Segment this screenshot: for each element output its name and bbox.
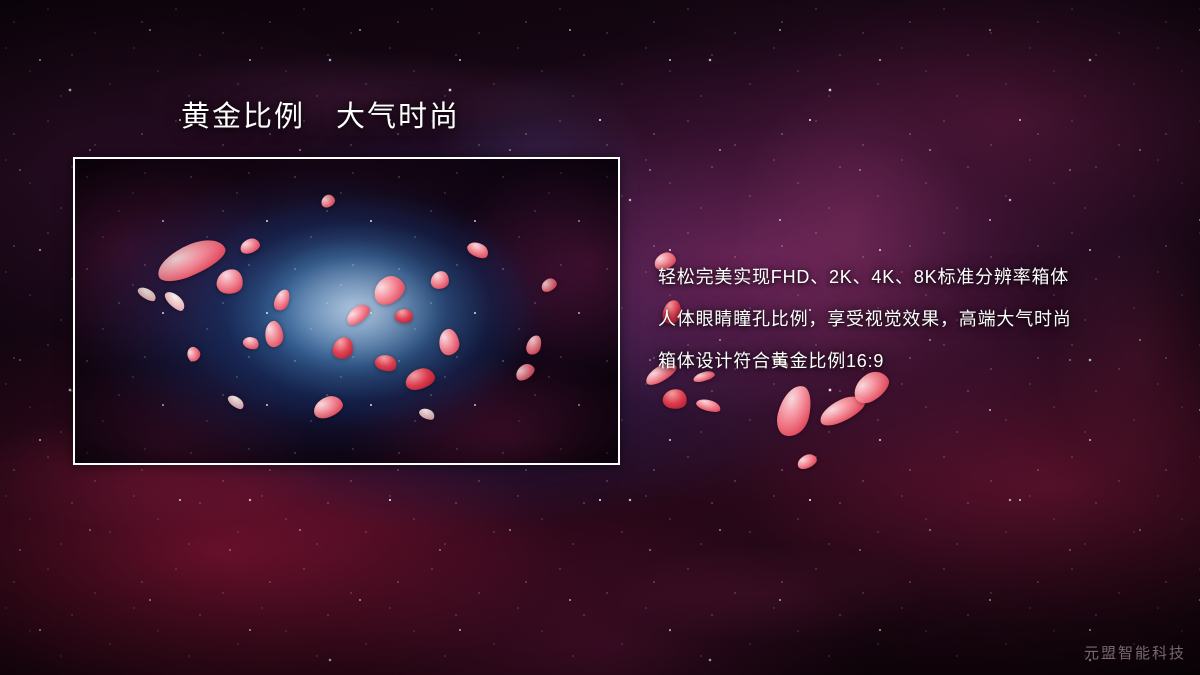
- flower-petal: [373, 352, 399, 375]
- flower-petal: [465, 238, 491, 261]
- body-line-2: 人体眼睛瞳孔比例，享受视觉效果，高端大气时尚: [658, 298, 1158, 340]
- flower-petal: [272, 287, 292, 312]
- body-line-3: 箱体设计符合黄金比例16:9: [658, 340, 1158, 382]
- flower-petal: [226, 392, 246, 411]
- flower-petal: [162, 288, 187, 314]
- flower-petal: [369, 271, 409, 308]
- flower-petal: [430, 270, 450, 290]
- flower-petal: [152, 233, 230, 288]
- photo-starfield: [75, 159, 618, 463]
- flower-petal: [525, 333, 544, 356]
- photo-core-glow: [75, 159, 618, 463]
- flower-petal: [311, 393, 346, 421]
- flower-petal: [539, 276, 558, 293]
- flower-petal: [816, 391, 868, 430]
- company-watermark: 元盟智能科技: [1084, 642, 1186, 663]
- flower-petal: [241, 334, 260, 351]
- photo-frame-16x9: [73, 157, 620, 465]
- flower-petal: [215, 267, 245, 296]
- flower-petal: [263, 320, 285, 349]
- presentation-slide: 黄金比例 大气时尚 轻松完美实现FHD、2K、4K、8K标准分辨率箱体 人体眼睛…: [0, 0, 1200, 675]
- flower-petal: [695, 396, 722, 414]
- flower-petal: [795, 452, 818, 471]
- photo-galaxy-image: [75, 159, 618, 463]
- slide-title: 黄金比例 大气时尚: [181, 101, 460, 134]
- flower-petal: [773, 382, 816, 440]
- flower-petal: [513, 361, 537, 383]
- flower-petal: [403, 366, 437, 393]
- photo-vignette: [75, 159, 618, 463]
- flower-petal: [661, 387, 689, 412]
- flower-petal: [343, 301, 373, 328]
- flower-petal: [437, 327, 462, 357]
- body-line-1: 轻松完美实现FHD、2K、4K、8K标准分辨率箱体: [658, 256, 1158, 298]
- body-text-block: 轻松完美实现FHD、2K、4K、8K标准分辨率箱体 人体眼睛瞳孔比例，享受视觉效…: [658, 256, 1158, 382]
- flower-petal: [238, 237, 261, 256]
- flower-petal: [319, 193, 336, 209]
- flower-petal: [332, 336, 355, 361]
- flower-petal: [184, 345, 202, 364]
- flower-petal: [394, 307, 415, 324]
- flower-petal: [418, 406, 437, 422]
- flower-petal: [136, 284, 158, 303]
